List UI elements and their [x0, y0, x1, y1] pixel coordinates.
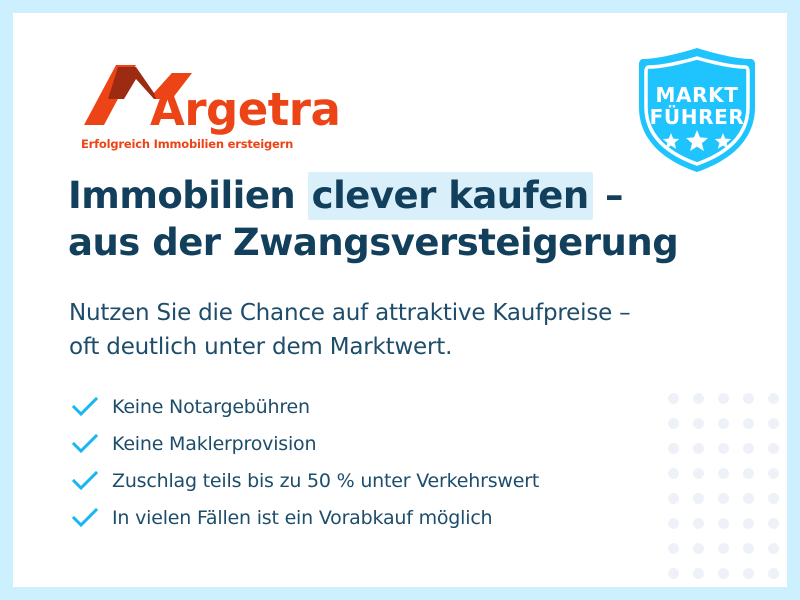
pattern-dot: [768, 393, 779, 404]
pattern-dot: [693, 468, 704, 479]
pattern-dot: [693, 543, 704, 554]
pattern-dot: [768, 493, 779, 504]
list-item: Keine Notargebühren: [70, 388, 670, 425]
check-icon: [70, 432, 100, 456]
list-item-label: Keine Maklerprovision: [112, 433, 316, 455]
pattern-dot: [693, 418, 704, 429]
pattern-dot: [718, 393, 729, 404]
pattern-dot: [718, 418, 729, 429]
pattern-dot: [718, 468, 729, 479]
check-icon: [70, 506, 100, 530]
pattern-dot: [743, 468, 754, 479]
pattern-dot: [718, 518, 729, 529]
logo-tagline: Erfolgreich Immobilien ersteigern: [81, 137, 293, 151]
headline-part-2: –: [593, 174, 623, 217]
headline-highlight: clever kaufen: [308, 172, 593, 220]
pattern-dot: [743, 543, 754, 554]
pattern-dot: [718, 568, 729, 579]
pattern-dot: [743, 518, 754, 529]
subtitle-line-2: oft deutlich unter dem Marktwert.: [69, 334, 452, 360]
banner-canvas: Argetra Erfolgreich Immobilien ersteiger…: [13, 13, 787, 587]
pattern-dot: [768, 518, 779, 529]
dot-pattern-decoration: [668, 393, 787, 587]
pattern-dot: [668, 568, 679, 579]
pattern-dot: [693, 443, 704, 454]
badge-line-1: MARKT: [631, 83, 763, 107]
pattern-dot: [668, 543, 679, 554]
page-title: Immobilien clever kaufen – aus der Zwang…: [68, 173, 728, 266]
pattern-dot: [768, 418, 779, 429]
pattern-dot: [693, 568, 704, 579]
logo-wordmark: Argetra: [150, 87, 340, 132]
benefits-checklist: Keine Notargebühren Keine Maklerprovisio…: [70, 388, 670, 536]
list-item: Keine Maklerprovision: [70, 425, 670, 462]
headline-line-2: aus der Zwangsversteigerung: [68, 221, 678, 264]
list-item-label: Zuschlag teils bis zu 50 % unter Verkehr…: [112, 470, 539, 492]
promo-banner: Argetra Erfolgreich Immobilien ersteiger…: [0, 0, 800, 600]
list-item-label: In vielen Fällen ist ein Vorabkauf mögli…: [112, 507, 492, 529]
pattern-dot: [743, 443, 754, 454]
pattern-dot: [693, 518, 704, 529]
pattern-dot: [693, 493, 704, 504]
list-item: Zuschlag teils bis zu 50 % unter Verkehr…: [70, 462, 670, 499]
pattern-dot: [718, 543, 729, 554]
pattern-dot: [693, 393, 704, 404]
subtitle-line-1: Nutzen Sie die Chance auf attraktive Kau…: [69, 300, 630, 326]
headline-part-1: Immobilien: [68, 174, 308, 217]
pattern-dot: [718, 443, 729, 454]
check-icon: [70, 395, 100, 419]
pattern-dot: [743, 393, 754, 404]
subtitle: Nutzen Sie die Chance auf attraktive Kau…: [69, 296, 709, 364]
argetra-logo[interactable]: Argetra Erfolgreich Immobilien ersteiger…: [80, 65, 310, 155]
pattern-dot: [768, 568, 779, 579]
pattern-dot: [743, 493, 754, 504]
badge-line-2: FÜHRER: [631, 105, 763, 129]
pattern-dot: [768, 468, 779, 479]
badge-stars: [631, 129, 763, 158]
pattern-dot: [743, 568, 754, 579]
pattern-dot: [718, 493, 729, 504]
pattern-dot: [768, 443, 779, 454]
pattern-dot: [768, 543, 779, 554]
list-item-label: Keine Notargebühren: [112, 396, 310, 418]
list-item: In vielen Fällen ist ein Vorabkauf mögli…: [70, 499, 670, 536]
pattern-dot: [743, 418, 754, 429]
marktfuehrer-badge: MARKT FÜHRER: [631, 45, 763, 175]
check-icon: [70, 469, 100, 493]
